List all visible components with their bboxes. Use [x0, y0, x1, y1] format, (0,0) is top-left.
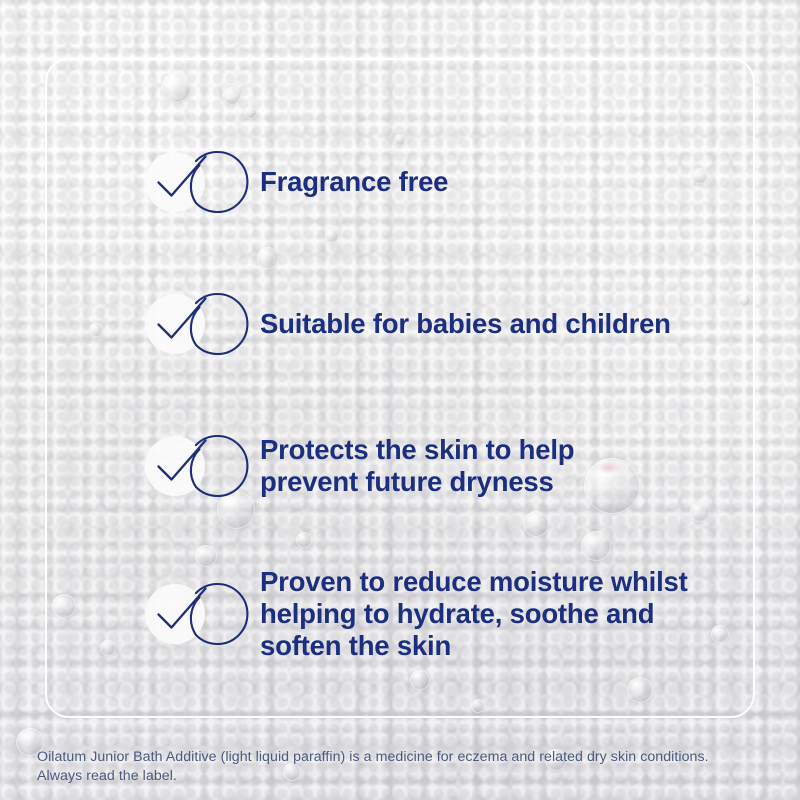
bubble	[89, 323, 103, 337]
benefit-text: Proven to reduce moisture whilst helping…	[260, 566, 688, 662]
benefit-item-reduce-moisture-loss: Proven to reduce moisture whilst helping…	[133, 566, 688, 662]
bubble	[100, 640, 116, 656]
bubble	[410, 670, 430, 690]
bubble	[471, 699, 485, 713]
benefit-text: Suitable for babies and children	[260, 308, 671, 340]
foam-speckle-layer-2	[0, 0, 800, 800]
benefit-text: Protects the skin to help prevent future…	[260, 434, 574, 498]
bubble	[161, 73, 191, 103]
bubble	[584, 458, 640, 514]
bubble	[581, 531, 611, 561]
bubble	[195, 545, 217, 567]
bubble	[223, 87, 241, 105]
bubble	[692, 168, 708, 184]
bubble	[711, 625, 729, 643]
bubble	[325, 229, 339, 243]
benefit-item-protects-skin: Protects the skin to help prevent future…	[133, 424, 574, 508]
bubble	[52, 594, 76, 618]
footer-disclaimer: Oilatum Junior Bath Additive (light liqu…	[37, 748, 767, 785]
check-circle-icon	[133, 572, 217, 656]
bubble	[244, 106, 257, 119]
bubble	[523, 511, 549, 537]
bubble	[257, 247, 279, 269]
check-circle-icon	[133, 140, 217, 224]
check-circle-icon	[133, 282, 217, 366]
bubble	[738, 294, 751, 307]
benefit-text: Fragrance free	[260, 166, 448, 198]
benefit-item-suitable-babies-children: Suitable for babies and children	[133, 282, 671, 366]
bubble	[296, 532, 312, 548]
bubble	[627, 677, 653, 703]
benefit-item-fragrance-free: Fragrance free	[133, 140, 448, 224]
bubble	[690, 502, 710, 522]
promo-graphic: Fragrance freeSuitable for babies and ch…	[0, 0, 800, 800]
check-circle-icon	[133, 424, 217, 508]
